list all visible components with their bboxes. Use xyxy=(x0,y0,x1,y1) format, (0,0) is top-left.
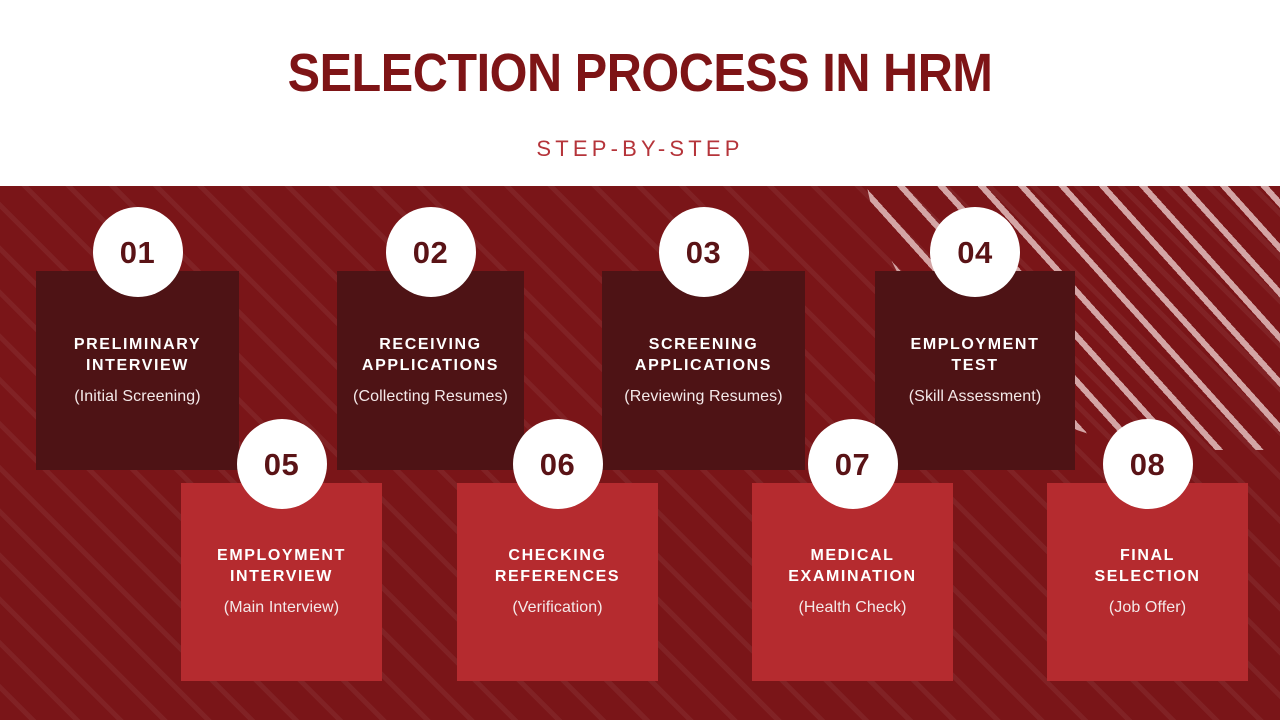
slide-canvas: SELECTION PROCESS IN HRM STEP-BY-STEP PR… xyxy=(0,0,1280,720)
step-card-06[interactable]: CHECKING REFERENCES(Verification) xyxy=(457,483,658,681)
step-card-02[interactable]: RECEIVING APPLICATIONS(Collecting Resume… xyxy=(337,271,524,470)
step-number-badge-01[interactable]: 01 xyxy=(93,207,183,297)
step-card-title: FINAL SELECTION xyxy=(1095,545,1201,587)
step-number-label: 04 xyxy=(957,237,992,268)
step-card-subtitle: (Main Interview) xyxy=(224,597,339,619)
page-subtitle: STEP-BY-STEP xyxy=(0,134,1280,164)
step-number-label: 05 xyxy=(264,449,299,480)
step-card-subtitle: (Skill Assessment) xyxy=(909,386,1042,408)
step-card-title: PRELIMINARY INTERVIEW xyxy=(74,334,201,376)
step-number-label: 07 xyxy=(835,449,870,480)
step-card-subtitle: (Job Offer) xyxy=(1109,597,1186,619)
step-card-07[interactable]: MEDICAL EXAMINATION(Health Check) xyxy=(752,483,953,681)
step-number-badge-03[interactable]: 03 xyxy=(659,207,749,297)
step-number-badge-02[interactable]: 02 xyxy=(386,207,476,297)
step-card-subtitle: (Health Check) xyxy=(798,597,906,619)
step-card-title: RECEIVING APPLICATIONS xyxy=(362,334,499,376)
step-number-badge-05[interactable]: 05 xyxy=(237,419,327,509)
step-number-label: 02 xyxy=(413,237,448,268)
step-number-badge-07[interactable]: 07 xyxy=(808,419,898,509)
step-card-01[interactable]: PRELIMINARY INTERVIEW(Initial Screening) xyxy=(36,271,239,470)
page-title: SELECTION PROCESS IN HRM xyxy=(64,42,1216,104)
step-number-label: 01 xyxy=(120,237,155,268)
step-number-badge-04[interactable]: 04 xyxy=(930,207,1020,297)
step-card-title: MEDICAL EXAMINATION xyxy=(788,545,916,587)
step-card-title: CHECKING REFERENCES xyxy=(495,545,620,587)
step-card-subtitle: (Reviewing Resumes) xyxy=(624,386,782,408)
step-number-badge-06[interactable]: 06 xyxy=(513,419,603,509)
step-card-subtitle: (Collecting Resumes) xyxy=(353,386,508,408)
step-number-label: 06 xyxy=(540,449,575,480)
step-card-03[interactable]: SCREENING APPLICATIONS(Reviewing Resumes… xyxy=(602,271,805,470)
step-card-08[interactable]: FINAL SELECTION(Job Offer) xyxy=(1047,483,1248,681)
step-number-badge-08[interactable]: 08 xyxy=(1103,419,1193,509)
step-card-title: EMPLOYMENT TEST xyxy=(911,334,1040,376)
step-number-label: 08 xyxy=(1130,449,1165,480)
step-card-subtitle: (Verification) xyxy=(512,597,602,619)
step-card-title: SCREENING APPLICATIONS xyxy=(635,334,772,376)
step-card-title: EMPLOYMENT INTERVIEW xyxy=(217,545,346,587)
header-band: SELECTION PROCESS IN HRM STEP-BY-STEP xyxy=(0,0,1280,186)
step-card-subtitle: (Initial Screening) xyxy=(74,386,200,408)
step-card-05[interactable]: EMPLOYMENT INTERVIEW(Main Interview) xyxy=(181,483,382,681)
step-number-label: 03 xyxy=(686,237,721,268)
step-card-04[interactable]: EMPLOYMENT TEST(Skill Assessment) xyxy=(875,271,1075,470)
